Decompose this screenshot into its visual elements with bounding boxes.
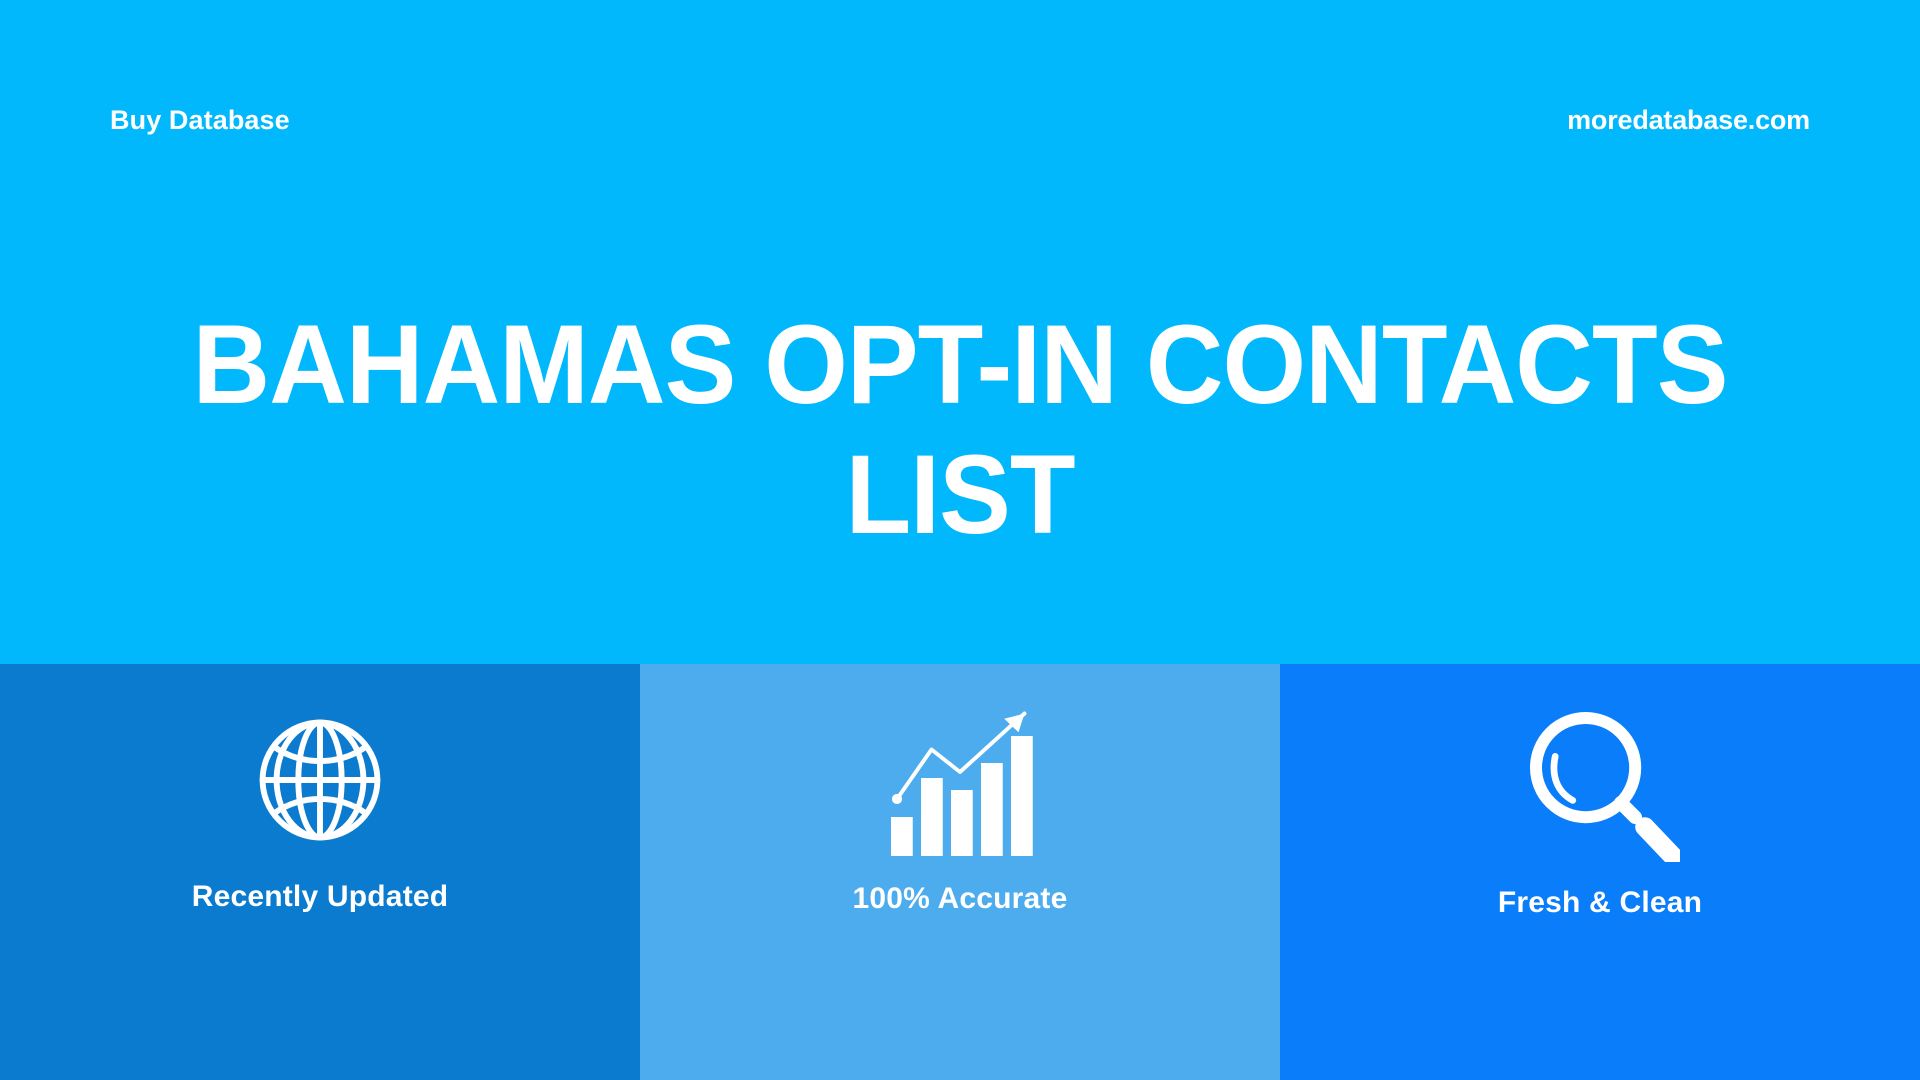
- bar-chart-growth-icon: [885, 706, 1035, 856]
- feature-panel-fresh-clean: Fresh & Clean: [1280, 664, 1920, 1080]
- feature-label-recently-updated: Recently Updated: [192, 880, 449, 914]
- feature-label-fresh-clean: Fresh & Clean: [1498, 886, 1702, 920]
- promo-banner: Buy Database moredatabase.com BAHAMAS OP…: [0, 0, 1920, 1080]
- page-title: BAHAMAS OPT-IN CONTACTS LIST: [96, 300, 1824, 560]
- feature-label-accurate: 100% Accurate: [853, 882, 1068, 916]
- feature-panel-accurate: 100% Accurate: [640, 664, 1280, 1080]
- hero-title-container: BAHAMAS OPT-IN CONTACTS LIST: [0, 300, 1920, 560]
- feature-panel-recently-updated: Recently Updated: [0, 664, 640, 1080]
- hero-section: Buy Database moredatabase.com BAHAMAS OP…: [0, 0, 1920, 664]
- header-bar: Buy Database moredatabase.com: [0, 105, 1920, 136]
- website-url: moredatabase.com: [1567, 105, 1810, 136]
- feature-panels: Recently Updated: [0, 664, 1920, 1080]
- globe-icon: [250, 710, 390, 850]
- magnifier-icon: [1520, 702, 1680, 862]
- brand-title: Buy Database: [110, 105, 290, 136]
